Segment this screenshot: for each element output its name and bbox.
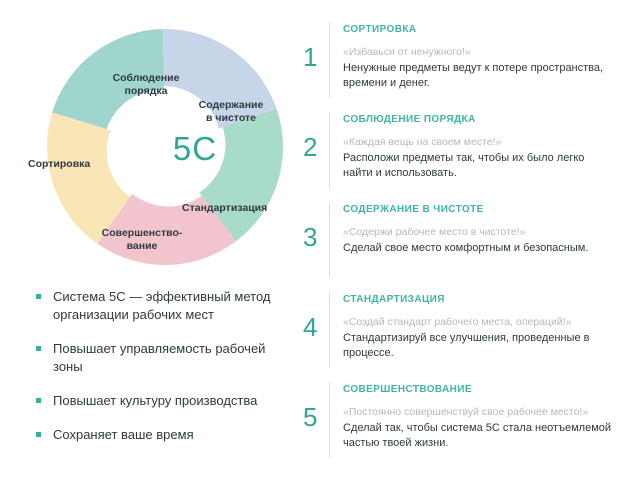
list-item-text: Повышает управляемость рабочей зоны [53,340,298,376]
step-number: 5 [303,382,329,430]
donut-label-order-line2: порядка [125,85,168,97]
step-body: СОВЕРШЕНСТВОВАНИЕ «Постоянно совершенств… [329,382,613,458]
donut-label-cleanliness-line2: в чистоте [206,112,256,124]
five-s-steps-list: 1 СОРТИРОВКА «Избавься от ненужного!» Не… [303,22,613,458]
step-item-4: 4 СТАНДАРТИЗАЦИЯ «Создай стандарт рабоче… [303,292,613,382]
list-item: Повышает управляемость рабочей зоны [36,340,298,376]
donut-label-order-line1: Соблюдение [113,72,180,84]
step-quote: «Каждая вещь на своем месте!» [343,135,613,149]
step-item-2: 2 СОБЛЮДЕНИЕ ПОРЯДКА «Каждая вещь на сво… [303,112,613,202]
step-title: СОВЕРШЕНСТВОВАНИЕ [343,384,613,395]
step-number: 4 [303,292,329,340]
step-quote: «Постоянно совершенствуй свое рабочее ме… [343,405,613,419]
step-body: СОРТИРОВКА «Избавься от ненужного!» Нену… [329,22,613,98]
step-item-3: 3 СОДЕРЖАНИЕ В ЧИСТОТЕ «Содержи рабочее … [303,202,613,292]
list-item: Сохраняет ваше время [36,426,298,444]
step-quote: «Создай стандарт рабочего места, операци… [343,315,613,329]
step-title: СОРТИРОВКА [343,24,613,35]
step-item-5: 5 СОВЕРШЕНСТВОВАНИЕ «Постоянно совершенс… [303,382,613,458]
donut-label-improvement: Совершенство- вание [92,227,192,253]
donut-label-standardization: Стандартизация [182,202,267,215]
step-description: Стандартизируй все улучшения, проведенны… [343,331,613,360]
five-s-donut-chart: 5C Сортировка Соблюдение порядка Содержа… [30,22,300,280]
donut-label-order: Соблюдение порядка [98,72,194,98]
list-item-text: Повышает культуру производства [53,392,257,410]
donut-label-cleanliness-line1: Содержание [199,99,264,111]
step-quote: «Содержи рабочее место в чистоте!» [343,225,613,239]
step-item-1: 1 СОРТИРОВКА «Избавься от ненужного!» Не… [303,22,613,112]
bullet-square-icon [36,294,41,299]
step-number: 3 [303,202,329,250]
benefits-list: Система 5С — эффективный метод организац… [36,288,298,460]
step-description: Сделай свое место комфортным и безопасны… [343,241,613,256]
list-item: Система 5С — эффективный метод организац… [36,288,298,324]
bullet-square-icon [36,432,41,437]
step-quote: «Избавься от ненужного!» [343,45,613,59]
donut-label-improvement-line1: Совершенство- [102,227,183,239]
donut-label-improvement-line2: вание [127,240,158,252]
list-item-text: Система 5С — эффективный метод организац… [53,288,298,324]
step-title: СОБЛЮДЕНИЕ ПОРЯДКА [343,114,613,125]
step-body: СТАНДАРТИЗАЦИЯ «Создай стандарт рабочего… [329,292,613,368]
step-description: Сделай так, чтобы система 5С стала неотъ… [343,421,613,450]
step-body: СОБЛЮДЕНИЕ ПОРЯДКА «Каждая вещь на своем… [329,112,613,188]
step-description: Ненужные предметы ведут к потере простра… [343,61,613,90]
step-title: СТАНДАРТИЗАЦИЯ [343,294,613,305]
bullet-square-icon [36,346,41,351]
step-body: СОДЕРЖАНИЕ В ЧИСТОТЕ «Содержи рабочее ме… [329,202,613,278]
step-number: 2 [303,112,329,160]
donut-center-label: 5C [129,130,261,168]
step-title: СОДЕРЖАНИЕ В ЧИСТОТЕ [343,204,613,215]
list-item: Повышает культуру производства [36,392,298,410]
donut-label-sorting: Сортировка [28,158,90,171]
step-number: 1 [303,22,329,70]
donut-label-cleanliness: Содержание в чистоте [188,99,274,125]
bullet-square-icon [36,398,41,403]
list-item-text: Сохраняет ваше время [53,426,194,444]
step-description: Расположи предметы так, чтобы их было ле… [343,151,613,180]
